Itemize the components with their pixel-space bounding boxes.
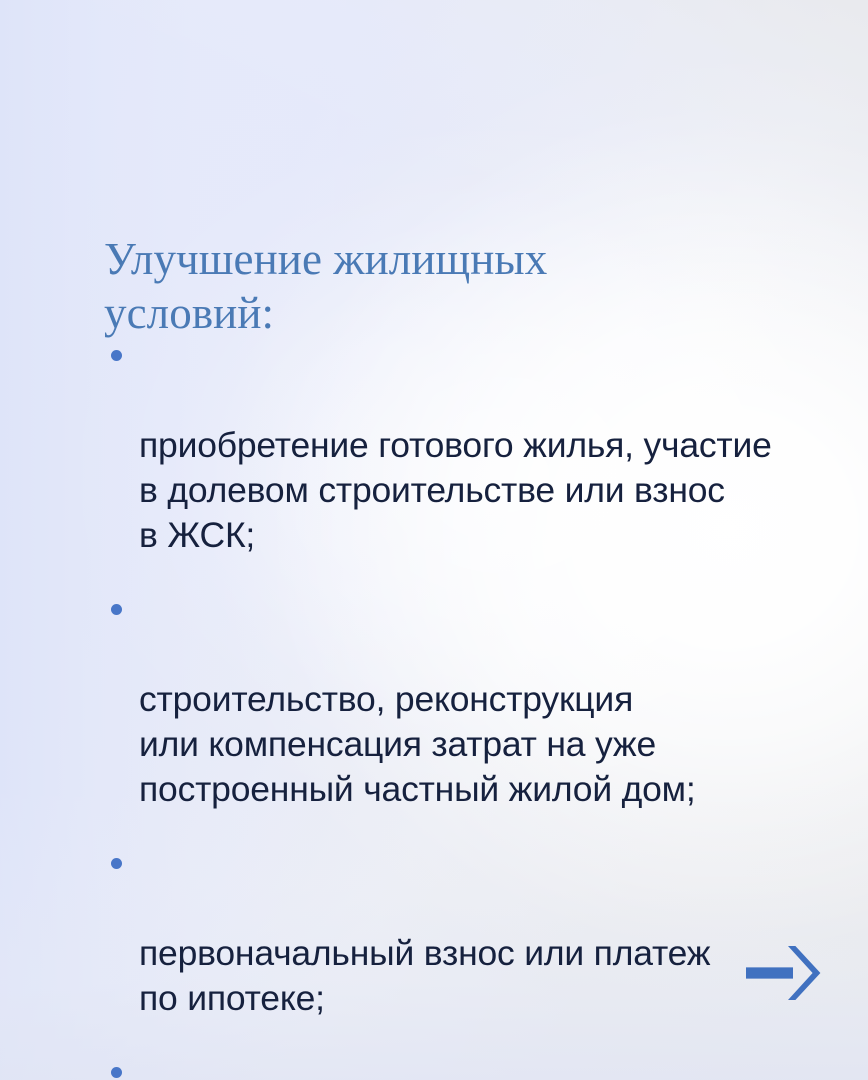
benefits-bullet-list: приобретение готового жилья, участие в д… <box>106 333 836 1080</box>
list-item: строительство, реконструкция или компенс… <box>106 587 836 812</box>
list-item: приобретение готового жилья, участие в д… <box>106 333 836 558</box>
list-item-label: строительство, реконструкция или компенс… <box>139 679 696 809</box>
slide-title: Улучшение жилищных условий: <box>104 232 724 340</box>
slide-content: Улучшение жилищных условий: приобретение… <box>0 0 868 1080</box>
list-item: погашение или оформление кредита с целью… <box>106 1050 836 1080</box>
bullet-dot-icon <box>111 604 122 615</box>
bullet-dot-icon <box>111 350 122 361</box>
slide-root: Улучшение жилищных условий: приобретение… <box>0 0 868 1080</box>
arrow-right-icon <box>744 944 824 1002</box>
bullet-dot-icon <box>111 1067 122 1078</box>
next-slide-button[interactable] <box>744 944 824 1002</box>
bullet-dot-icon <box>111 858 122 869</box>
list-item-label: приобретение готового жилья, участие в д… <box>139 425 772 555</box>
list-item: первоначальный взнос или платеж по ипоте… <box>106 841 836 1021</box>
list-item-label: первоначальный взнос или платеж по ипоте… <box>139 933 710 1018</box>
